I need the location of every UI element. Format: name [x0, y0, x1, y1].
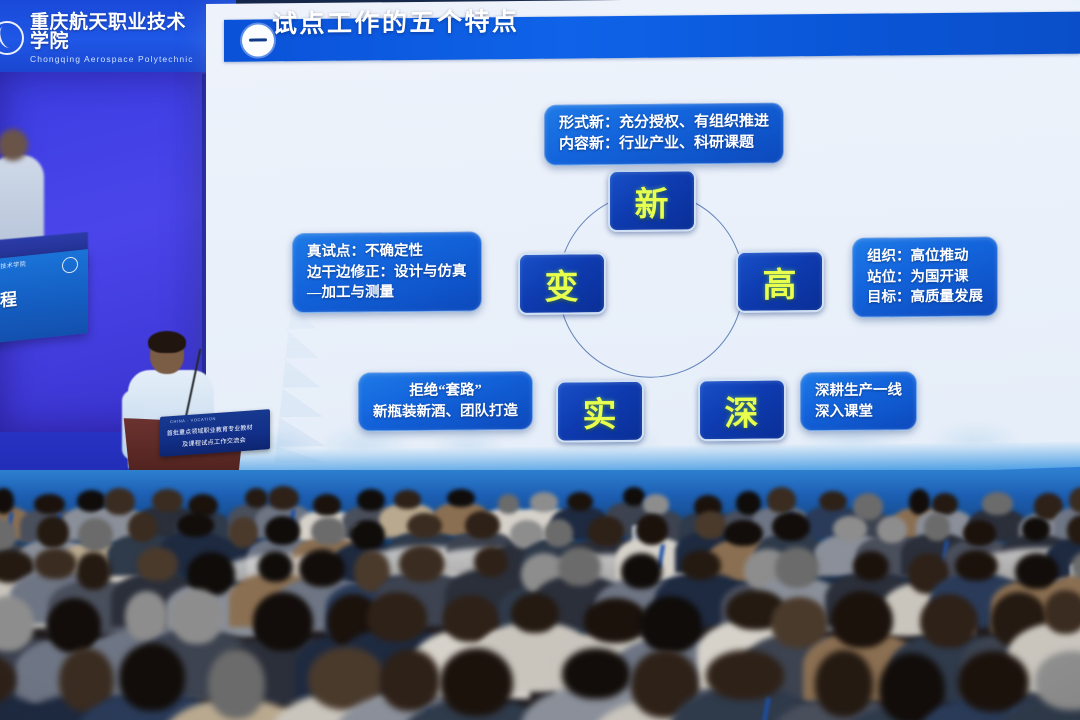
audience-member-head — [588, 516, 624, 546]
audience-member-head — [37, 516, 69, 548]
callout-gao: 组织：高位推动 站位：为国开课 目标：高质量发展 — [852, 236, 998, 317]
audience-member-head — [772, 512, 810, 542]
audience-member-head — [958, 651, 1029, 713]
audience-member-head — [76, 552, 111, 590]
audience-member-head — [171, 589, 223, 644]
audience-member-head — [511, 593, 559, 634]
node-shi-label: 实 — [583, 387, 618, 436]
audience-member-head — [530, 492, 559, 512]
podium-sign-logos: CHINA · VOCATION — [170, 416, 216, 424]
audience-member-head — [544, 519, 573, 547]
callout-shi-line1: 拒绝“套路” — [373, 380, 518, 402]
audience-member-head — [558, 547, 601, 586]
audience-member-head — [407, 513, 442, 538]
audience-member-head — [643, 494, 669, 515]
callout-gao-line2: 站位：为国开课 — [867, 266, 983, 288]
audience-member-head — [34, 494, 65, 514]
speaker-hair — [148, 331, 186, 353]
audience-member-head — [137, 547, 179, 581]
audience-member-head — [695, 511, 726, 539]
callout-shi-line2: 新瓶装新酒、团队打造 — [373, 401, 518, 423]
audience-member-head — [253, 592, 313, 650]
node-shen: 深 — [698, 378, 786, 441]
audience-member-head — [229, 517, 258, 548]
audience-member-head — [399, 545, 445, 582]
audience-member-head — [119, 643, 185, 710]
callout-bian-line1: 真试点：不确定性 — [307, 240, 467, 262]
audience-member-head — [440, 648, 513, 716]
audience-member-head — [1022, 517, 1049, 541]
audience-member-head — [963, 520, 996, 546]
audience-member-head — [562, 648, 630, 699]
callout-xin-line1: 形式新：充分授权、有组织推进 — [559, 112, 769, 135]
audience-member-head — [706, 650, 784, 700]
audience-member-head — [775, 547, 819, 588]
audience-member-head — [1015, 553, 1059, 590]
audience-member-head — [498, 494, 520, 513]
institution-name-cn: 重庆航天职业技术学院 — [30, 13, 204, 51]
node-bian-label: 变 — [545, 259, 580, 308]
audience-member-head — [152, 489, 183, 512]
callout-bian: 真试点：不确定性 边干边修正：设计与仿真 —加工与测量 — [292, 231, 482, 313]
audience-member-head — [909, 489, 930, 515]
audience-member-head — [771, 597, 828, 648]
callout-gao-line3: 目标：高质量发展 — [867, 287, 983, 309]
audience-member-head — [877, 516, 907, 543]
audience-member-head — [268, 486, 298, 511]
node-shi: 实 — [556, 380, 644, 443]
audience-member-head — [311, 517, 346, 545]
audience-member-head — [394, 490, 420, 509]
audience-member-head — [767, 487, 796, 513]
callout-gao-line1: 组织：高位推动 — [867, 246, 983, 268]
node-bian: 变 — [518, 252, 606, 315]
audience-member-head — [447, 489, 475, 507]
audience-member-head — [623, 487, 645, 506]
audience-member-head — [724, 520, 763, 546]
audience-member-head — [350, 520, 385, 550]
node-gao: 高 — [736, 250, 824, 313]
audience-member-head — [357, 489, 385, 511]
audience-member-head — [853, 551, 889, 581]
institution-name-en: Chongqing Aerospace Polytechnic — [30, 55, 204, 64]
audience — [0, 470, 1080, 720]
audience-member-head — [104, 488, 135, 515]
audience-member-head — [128, 512, 157, 542]
audience-member-head — [125, 591, 168, 641]
audience-member-head — [77, 490, 106, 512]
callout-shi: 拒绝“套路” 新瓶装新酒、团队打造 — [358, 371, 533, 432]
five-features-diagram: 新 高 深 实 变 形式新：充分授权、有组织推进 内容新：行业产业、科研课题 — [206, 0, 1080, 474]
node-gao-label: 高 — [763, 257, 798, 306]
audience-member-head — [177, 513, 215, 537]
institution-logo: 重庆航天职业技术学院 Chongqing Aerospace Polytechn… — [4, 14, 204, 62]
audience-member-head — [640, 596, 702, 653]
photo-frame: 重庆航天职业技术学院 Chongqing Aerospace Polytechn… — [0, 0, 1080, 720]
audience-member-head — [819, 491, 847, 512]
node-shen-label: 深 — [725, 385, 760, 434]
left-banner-line1: 育专业课程 — [0, 285, 18, 319]
audience-member-head — [955, 550, 998, 581]
node-xin-label: 新 — [635, 176, 670, 225]
left-banner-sign: 重庆航天职业技术学院 育专业课程 交流会 — [0, 249, 88, 347]
audience-member-head — [265, 516, 299, 545]
callout-xin-line2: 内容新：行业产业、科研课题 — [559, 133, 769, 156]
audience-member-head — [636, 514, 668, 545]
node-xin: 新 — [608, 169, 696, 232]
podium-sign: CHINA · VOCATION 首批重点领域职业教育专业教材 及课程试点工作交… — [160, 409, 270, 457]
emblem-icon — [62, 256, 78, 274]
swoosh-logo-icon — [0, 21, 24, 55]
audience-member-head — [853, 493, 883, 520]
audience-member-head — [932, 493, 958, 515]
audience-member-head — [474, 546, 508, 577]
audience-member-head — [924, 513, 950, 541]
audience-member-head — [245, 488, 268, 509]
audience-member-head — [299, 549, 346, 588]
background-person-head — [0, 129, 28, 161]
audience-member-head — [465, 511, 499, 539]
podium-sign-line2: 及课程试点工作交流会 — [182, 435, 246, 448]
audience-member-head — [208, 649, 265, 720]
audience-member-head — [367, 592, 427, 641]
audience-member-head — [1044, 590, 1080, 634]
audience-member-head — [34, 548, 77, 580]
callout-bian-line2: 边干边修正：设计与仿真 — [307, 261, 467, 283]
audience-member-head — [982, 492, 1013, 515]
callout-xin: 形式新：充分授权、有组织推进 内容新：行业产业、科研课题 — [544, 102, 784, 165]
projection-screen: 试点工作的五个特点 新 高 深 实 变 形式 — [206, 0, 1080, 524]
callout-shen-line1: 深耕生产一线 — [815, 380, 902, 401]
audience-member-head — [584, 598, 647, 643]
audience-member-head — [313, 494, 341, 516]
audience-member-head — [920, 594, 978, 648]
callout-shen-line2: 深入课堂 — [815, 401, 902, 422]
audience-member-head — [380, 649, 439, 711]
audience-member-head — [567, 492, 593, 511]
callout-shen: 深耕生产一线 深入课堂 — [800, 371, 917, 431]
audience-member-head — [681, 550, 720, 580]
audience-member-head — [621, 553, 663, 589]
audience-member-head — [831, 591, 893, 649]
left-banner-small: 重庆航天职业技术学院 — [0, 259, 26, 275]
callout-bian-line3: —加工与测量 — [307, 282, 467, 304]
audience-member-head — [815, 650, 873, 717]
audience-member-head — [833, 516, 867, 541]
audience-member-head — [258, 551, 293, 582]
